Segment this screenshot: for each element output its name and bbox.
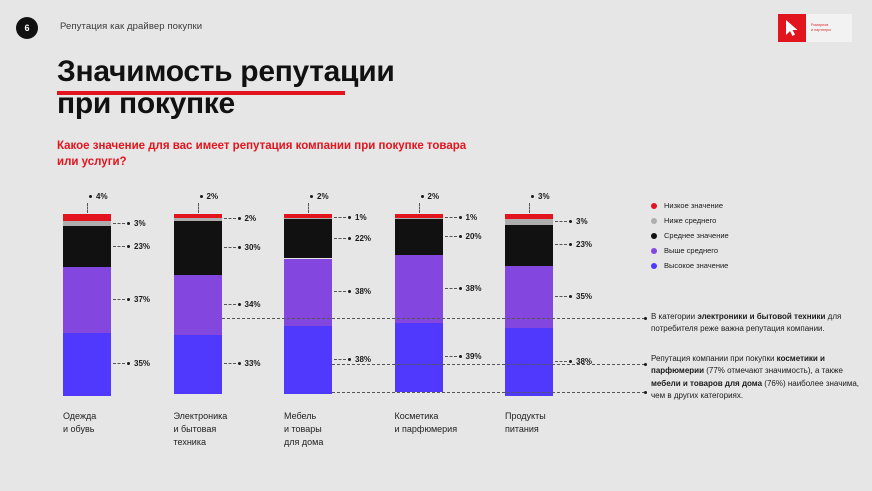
category-label: Электроника и бытовая техника (174, 410, 274, 449)
annotation-1-bold: электроники и бытовой техники (697, 312, 825, 321)
bar-value-label: 3% (113, 219, 146, 228)
bar-value-label: 3% (555, 217, 588, 226)
bar-segment (395, 255, 443, 323)
bar-segment (174, 221, 222, 274)
legend-color-swatch-icon (651, 233, 657, 239)
bar-segment (63, 226, 111, 267)
callout-stem (529, 203, 530, 213)
legend-item-label: Высокое значение (664, 261, 728, 270)
annotation-connector-line (332, 364, 645, 365)
category-label: Мебель и товары для дома (284, 410, 384, 449)
bar-value-label: 1% (334, 213, 367, 222)
annotation-connector-line (222, 318, 646, 319)
bar-segment (284, 326, 332, 394)
callout-stem (198, 203, 199, 213)
bar-segment (505, 225, 553, 266)
annotation-1-pre: В категории (651, 312, 697, 321)
annotation-connector-dot (644, 317, 647, 320)
stacked-bar-chart: 4%3%23%37%35%Одежда и обувь2%2%30%34%33%… (0, 0, 872, 491)
callout-stem (87, 203, 88, 213)
legend-color-swatch-icon (651, 248, 657, 254)
annotation-2-pre: Репутация компании при покупки (651, 354, 777, 363)
bar-value-label: 2% (200, 192, 219, 201)
annotation-2-mid: (77% отмечают значимость), а также (704, 366, 843, 375)
bar-segment (284, 219, 332, 258)
legend-item-label: Среднее значение (664, 231, 729, 240)
legend-color-swatch-icon (651, 218, 657, 224)
legend-item-label: Ниже среднего (664, 216, 716, 225)
bar-value-label: 22% (334, 234, 371, 243)
annotation-connector-dot (644, 391, 647, 394)
callout-stem (419, 203, 420, 213)
chart-legend: Низкое значениеНиже среднегоСреднее знач… (651, 198, 729, 273)
bar-segment (395, 323, 443, 392)
bar-segment (284, 259, 332, 327)
callout-stem (308, 203, 309, 213)
annotation-electronics: В категории электроники и бытовой техник… (651, 311, 866, 336)
bar-value-label: 38% (334, 355, 371, 364)
bar-value-label: 23% (555, 240, 592, 249)
bar-segment (174, 275, 222, 336)
category-label: Продукты питания (505, 410, 605, 436)
bar-value-label: 38% (334, 287, 371, 296)
bar-value-label: 20% (445, 232, 482, 241)
legend-item-label: Выше среднего (664, 246, 718, 255)
legend-color-swatch-icon (651, 263, 657, 269)
bar-value-label: 35% (113, 359, 150, 368)
bar-value-label: 2% (310, 192, 329, 201)
bar-segment (63, 333, 111, 395)
legend-color-swatch-icon (651, 203, 657, 209)
bar-value-label: 4% (89, 192, 108, 201)
legend-item: Среднее значение (651, 228, 729, 243)
bar-segment (63, 267, 111, 333)
legend-item: Выше среднего (651, 243, 729, 258)
bar-value-label: 33% (224, 359, 261, 368)
category-label: Одежда и обувь (63, 410, 163, 436)
bar-value-label: 39% (445, 352, 482, 361)
bar-value-label: 3% (531, 192, 550, 201)
bar-value-label: 30% (224, 243, 261, 252)
annotation-connector-line (332, 392, 645, 393)
annotation-connector-dot (644, 363, 647, 366)
bar-value-label: 37% (113, 295, 150, 304)
legend-item: Высокое значение (651, 258, 729, 273)
category-label: Косметика и парфюмерия (395, 410, 495, 436)
bar-value-label: 35% (555, 292, 592, 301)
bar-segment (174, 335, 222, 394)
bar-value-label: 34% (224, 300, 261, 309)
annotation-2-bold-2: мебели и товаров для дома (651, 379, 762, 388)
legend-item-label: Низкое значение (664, 201, 723, 210)
bar-value-label: 38% (445, 284, 482, 293)
bar-value-label: 2% (421, 192, 440, 201)
bar-value-label: 1% (445, 213, 478, 222)
bar-value-label: 23% (113, 242, 150, 251)
annotation-cosmetics-furniture: Репутация компании при покупки косметики… (651, 353, 866, 403)
bar-segment (63, 214, 111, 221)
bar-value-label: 2% (224, 214, 257, 223)
bar-segment (505, 328, 553, 396)
bar-segment (395, 219, 443, 255)
legend-item: Низкое значение (651, 198, 729, 213)
legend-item: Ниже среднего (651, 213, 729, 228)
